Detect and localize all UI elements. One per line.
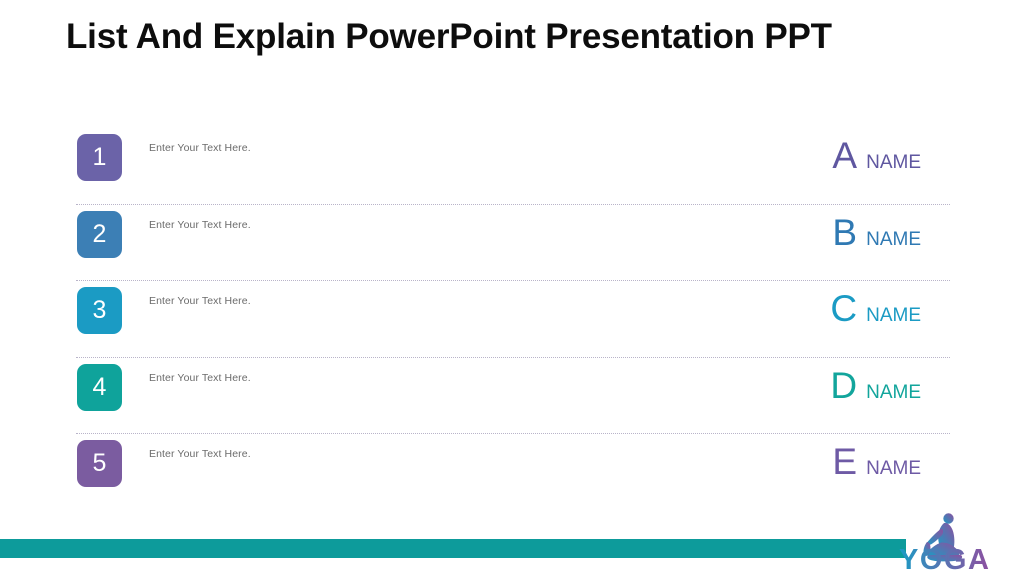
yoga-logo[interactable]: YOGA [896,511,1016,573]
list-item[interactable]: 5 Enter Your Text Here. E NAME [0,434,1024,511]
list-item[interactable]: 1 Enter Your Text Here. A NAME [0,128,1024,205]
presentation-slide: List And Explain PowerPoint Presentation… [0,0,1024,576]
row-body-text[interactable]: Enter Your Text Here. [149,448,251,460]
row-number-badge: 2 [77,211,122,258]
footer-accent-bar [0,539,906,558]
list-item[interactable]: 3 Enter Your Text Here. C NAME [0,281,1024,358]
row-name-label[interactable]: NAME [866,383,921,402]
row-label-group: D NAME [830,367,921,404]
row-number-badge: 3 [77,287,122,334]
list-item[interactable]: 2 Enter Your Text Here. B NAME [0,205,1024,282]
row-body-text[interactable]: Enter Your Text Here. [149,142,251,154]
row-label-group: B NAME [832,214,921,251]
row-letter: C [830,290,857,327]
row-number-badge: 1 [77,134,122,181]
row-name-label[interactable]: NAME [866,153,921,172]
row-body-text[interactable]: Enter Your Text Here. [149,219,251,231]
row-label-group: A NAME [832,137,921,174]
list-rows-container: 1 Enter Your Text Here. A NAME 2 Enter Y… [0,128,1024,511]
row-letter: B [832,214,857,251]
row-body-text[interactable]: Enter Your Text Here. [149,372,251,384]
row-name-label[interactable]: NAME [866,306,921,325]
logo-wordmark: YOGA [899,544,990,573]
row-body-text[interactable]: Enter Your Text Here. [149,295,251,307]
row-letter: A [832,137,857,174]
row-letter: D [830,367,857,404]
row-name-label[interactable]: NAME [866,459,921,478]
row-label-group: E NAME [832,443,921,480]
list-item[interactable]: 4 Enter Your Text Here. D NAME [0,358,1024,435]
row-number-badge: 4 [77,364,122,411]
row-label-group: C NAME [830,290,921,327]
row-letter: E [832,443,857,480]
row-number-badge: 5 [77,440,122,487]
page-title: List And Explain PowerPoint Presentation… [66,17,966,57]
row-name-label[interactable]: NAME [866,230,921,249]
